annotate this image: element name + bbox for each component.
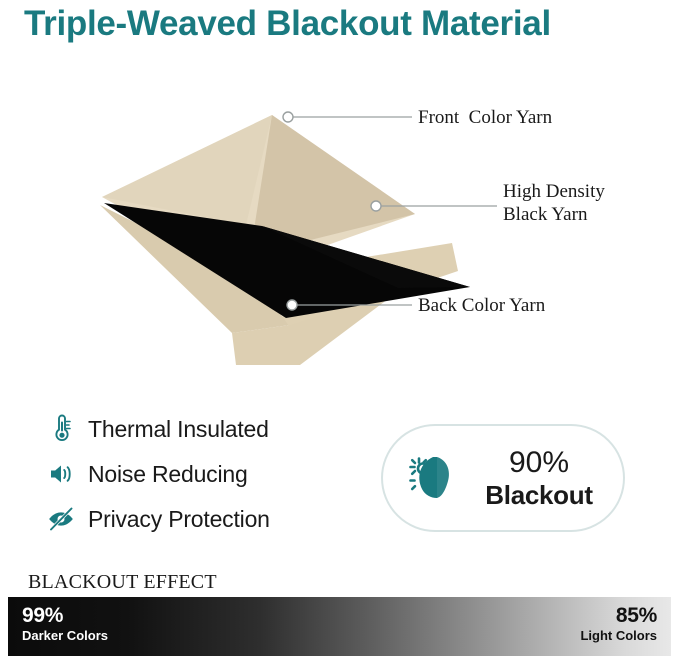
blackout-effect-caption: BLACKOUT EFFECT <box>28 571 217 594</box>
right-percent: 85% <box>580 604 657 628</box>
fabric-layers-diagram: Front Color Yarn High Density Black Yarn… <box>0 75 679 365</box>
blackout-effect-right: 85% Light Colors <box>580 604 657 644</box>
callout-dot-back <box>287 300 297 310</box>
left-percent: 99% <box>22 604 108 628</box>
sun-blocked-icon <box>401 449 459 507</box>
callout-dot-front <box>283 112 293 122</box>
feature-noise-reducing: Noise Reducing <box>44 452 374 496</box>
feature-label: Thermal Insulated <box>88 416 269 443</box>
product-infographic: Triple-Weaved Blackout Material Front Co… <box>0 0 679 656</box>
page-title: Triple-Weaved Blackout Material <box>24 2 664 46</box>
feature-label: Privacy Protection <box>88 506 270 533</box>
badge-text: 90% Blackout <box>465 446 623 510</box>
feature-list: Thermal Insulated Noise Reducing <box>44 407 374 542</box>
callout-label-front: Front Color Yarn <box>418 106 552 129</box>
speaker-sound-icon <box>44 457 78 491</box>
badge-word: Blackout <box>485 480 592 510</box>
thermometer-icon <box>44 412 78 446</box>
feature-label: Noise Reducing <box>88 461 248 488</box>
left-label: Darker Colors <box>22 628 108 644</box>
callout-dot-high-density <box>371 201 381 211</box>
right-label: Light Colors <box>580 628 657 644</box>
feature-thermal-insulated: Thermal Insulated <box>44 407 374 451</box>
callout-label-back: Back Color Yarn <box>418 294 545 317</box>
blackout-badge: 90% Blackout <box>381 424 625 532</box>
eye-slash-icon <box>44 502 78 536</box>
feature-privacy-protection: Privacy Protection <box>44 497 374 541</box>
blackout-effect-left: 99% Darker Colors <box>22 604 108 644</box>
callout-label-high-density: High Density Black Yarn <box>503 180 605 226</box>
badge-percent: 90% <box>509 446 569 479</box>
